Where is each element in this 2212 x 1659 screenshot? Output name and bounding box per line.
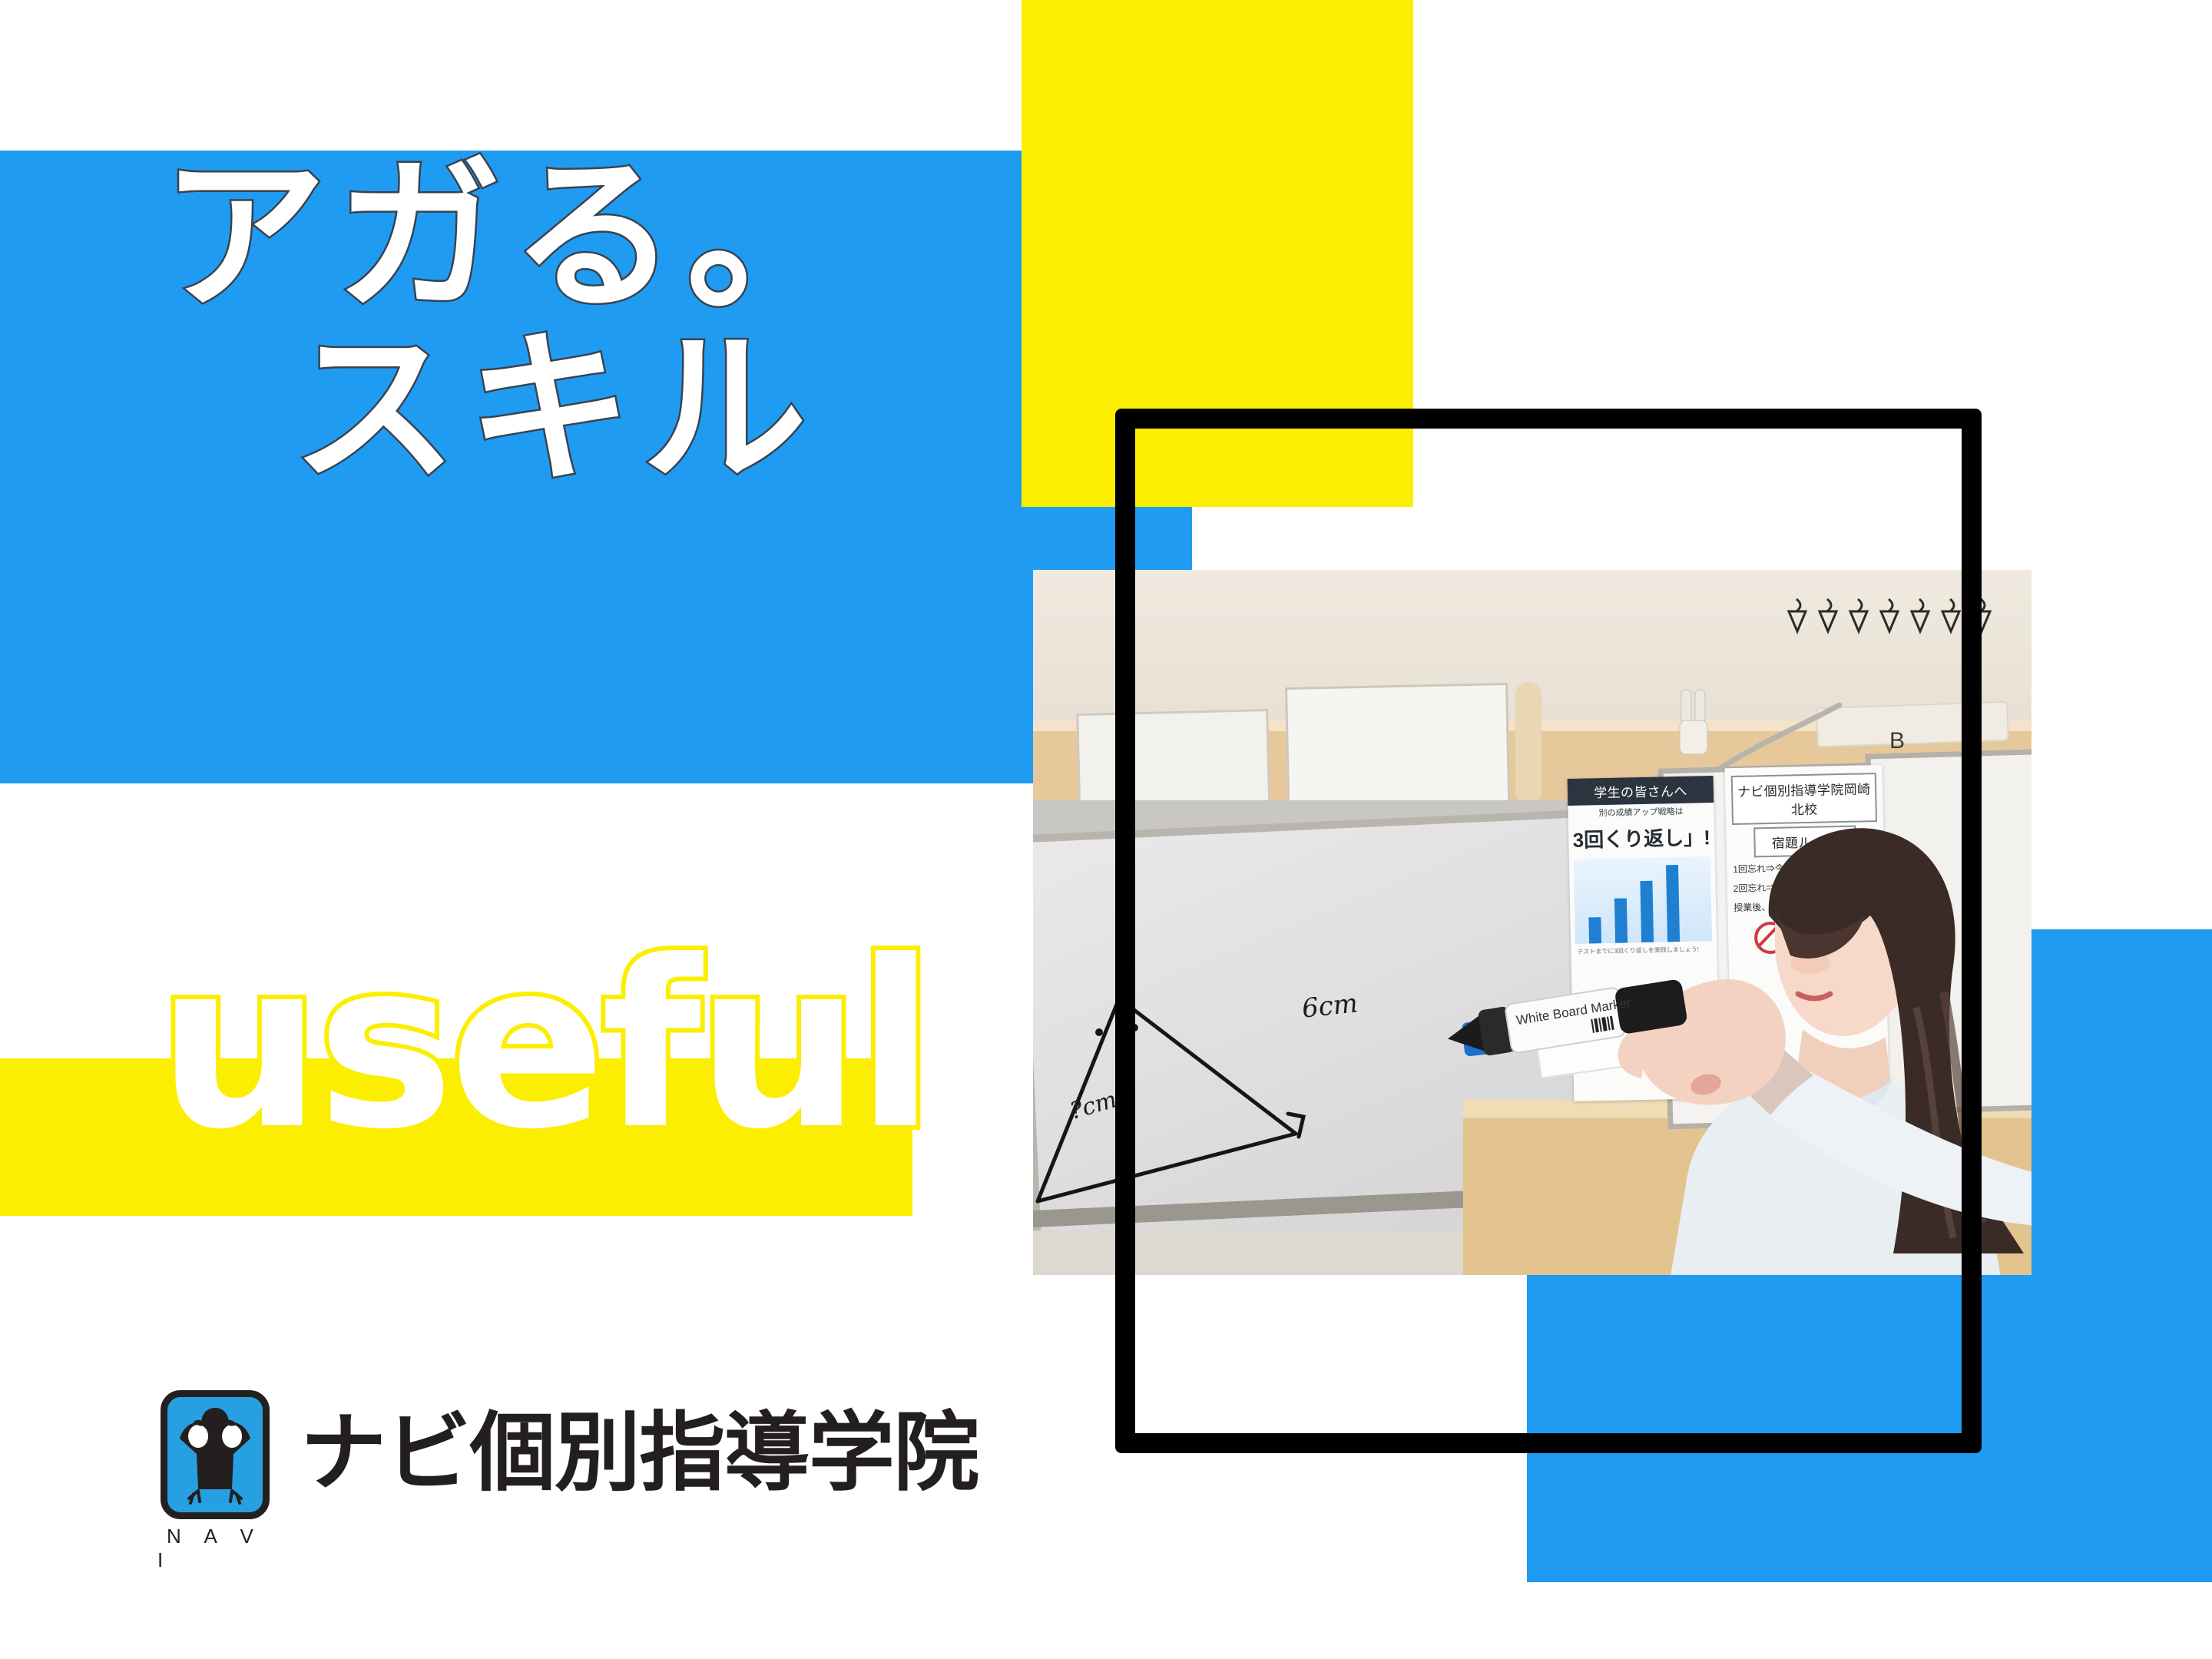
poster-1-header: 学生の皆さんへ xyxy=(1568,776,1714,806)
photo-scene: 6cm ?cm 学生の皆さんへ 別の成績アップ戦略は 3回くり返し」! テストま… xyxy=(1033,570,2032,1275)
headline-group: アガる。 スキル xyxy=(115,154,1037,492)
classroom-photo: 6cm ?cm 学生の皆さんへ 別の成績アップ戦略は 3回くり返し」! テストま… xyxy=(1033,570,2032,1275)
navi-owl-icon xyxy=(161,1390,270,1519)
logo-wordmark: ナビ個別指導学院 xyxy=(300,1410,979,1496)
poster-2-title: ナビ個別指導学院岡崎北校 xyxy=(1731,773,1877,825)
photo-roller-tube xyxy=(1515,682,1541,805)
brand-logo-lockup: N A V I ナビ個別指導学院 xyxy=(157,1390,979,1572)
photo-triangle-drawing xyxy=(1033,985,1448,1269)
headline-line-2: スキル xyxy=(292,326,1037,492)
logo-navi-caption: N A V I xyxy=(157,1525,273,1572)
poster-canvas: 6cm ?cm 学生の皆さんへ 別の成績アップ戦略は 3回くり返し」! テストま… xyxy=(0,0,2212,1659)
whiteboard-label-side: 6cm xyxy=(1300,988,1359,1024)
logo-mark-group: N A V I xyxy=(157,1390,273,1572)
tagline-useful: useful xyxy=(157,931,931,1161)
yellow-accent-block-top xyxy=(1022,0,1413,507)
white-notch xyxy=(0,1216,184,1277)
photo-hangers-icon xyxy=(1786,591,2016,645)
photo-shelf-label: B xyxy=(1889,728,1905,754)
headline-line-1: アガる。 xyxy=(161,154,1037,319)
poster-1-subhead: 別の成績アップ戦略は xyxy=(1568,806,1714,820)
